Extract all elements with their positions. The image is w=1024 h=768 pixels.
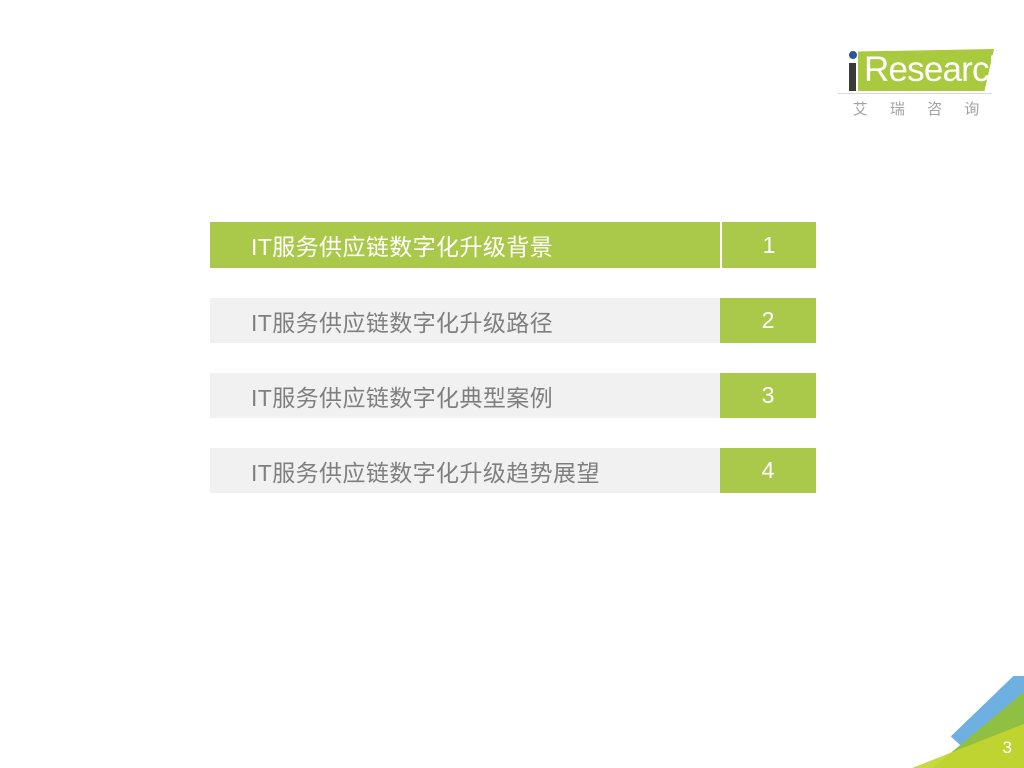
- page-number: 3: [1003, 739, 1012, 756]
- toc-item-1[interactable]: IT服务供应链数字化升级背景 1: [210, 222, 816, 268]
- logo-mark: Research: [836, 40, 996, 100]
- logo-i-dot-icon: [849, 51, 857, 59]
- toc-item-3-number: 3: [720, 373, 816, 418]
- toc-item-4-label: IT服务供应链数字化升级趋势展望: [210, 448, 720, 493]
- toc-item-1-label: IT服务供应链数字化升级背景: [210, 222, 720, 268]
- logo-divider: [838, 93, 992, 94]
- logo-i-stem-icon: [849, 63, 856, 91]
- toc-item-3-label: IT服务供应链数字化典型案例: [210, 373, 720, 418]
- toc-item-2-label: IT服务供应链数字化升级路径: [210, 298, 720, 343]
- iresearch-logo: Research 艾 瑞 咨 询: [836, 40, 996, 135]
- toc-item-1-number: 1: [720, 222, 816, 268]
- toc-item-4[interactable]: IT服务供应链数字化升级趋势展望 4: [210, 448, 816, 493]
- logo-subtitle: 艾 瑞 咨 询: [836, 98, 996, 119]
- toc-item-4-number: 4: [720, 448, 816, 493]
- corner-decoration: 3: [900, 676, 1024, 768]
- logo-wordmark: Research: [864, 51, 1007, 89]
- table-of-contents: IT服务供应链数字化升级背景 1 IT服务供应链数字化升级路径 2 IT服务供应…: [210, 222, 816, 523]
- toc-item-2-number: 2: [720, 298, 816, 343]
- toc-item-3[interactable]: IT服务供应链数字化典型案例 3: [210, 373, 816, 418]
- toc-item-2[interactable]: IT服务供应链数字化升级路径 2: [210, 298, 816, 343]
